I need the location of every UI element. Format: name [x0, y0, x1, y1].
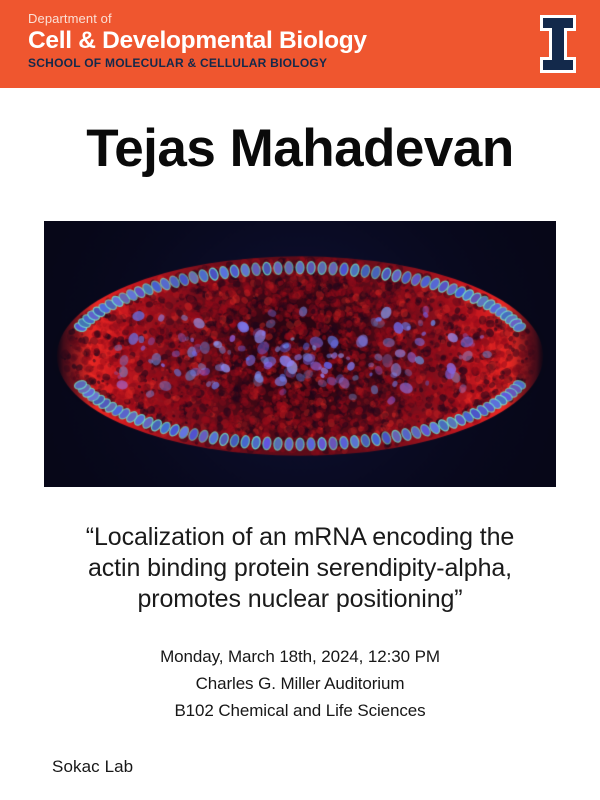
event-details: Monday, March 18th, 2024, 12:30 PM Charl… — [24, 643, 576, 724]
speaker-name: Tejas Mahadevan — [0, 118, 600, 180]
school-name: SCHOOL OF MOLECULAR & CELLULAR BIOLOGY — [28, 56, 498, 70]
department-eyebrow: Department of — [28, 11, 498, 26]
event-venue: Charles G. Miller Auditorium — [24, 670, 576, 697]
talk-title-line-3: promotes nuclear positioning” — [24, 584, 576, 615]
talk-title: “Localization of an mRNA encoding the ac… — [24, 522, 576, 615]
illinois-block-i-icon — [534, 12, 582, 76]
talk-title-line-1: “Localization of an mRNA encoding the — [24, 522, 576, 553]
embryo-micrograph-canvas — [44, 221, 556, 487]
talk-title-line-2: actin binding protein serendipity-alpha, — [24, 553, 576, 584]
event-building: B102 Chemical and Life Sciences — [24, 697, 576, 724]
lab-credit: Sokac Lab — [52, 757, 133, 777]
department-header-band: Department of Cell & Developmental Biolo… — [0, 0, 600, 88]
event-datetime: Monday, March 18th, 2024, 12:30 PM — [24, 643, 576, 670]
department-name: Cell & Developmental Biology — [28, 27, 498, 54]
header-text-group: Department of Cell & Developmental Biolo… — [28, 11, 498, 70]
microscopy-figure — [44, 221, 556, 487]
